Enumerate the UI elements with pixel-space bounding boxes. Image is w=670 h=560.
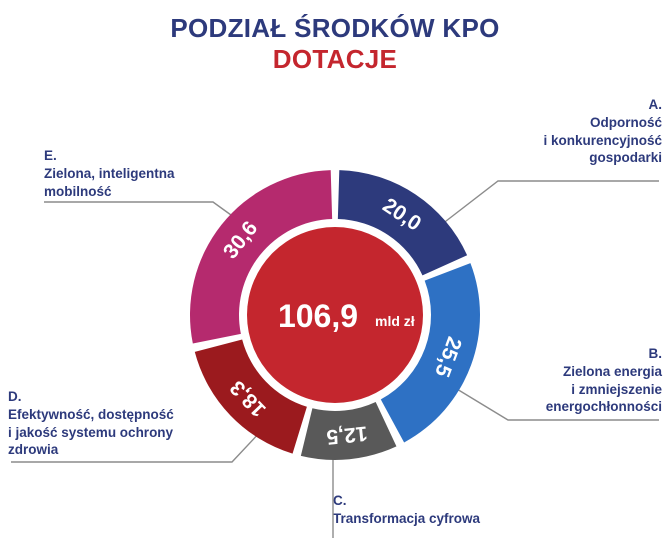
center-total-value: 106,9 xyxy=(278,298,358,334)
slice-value-c: 12,5 xyxy=(325,421,368,448)
center-total-unit: mld zł xyxy=(375,313,415,329)
donut-chart: 106,9 mld zł 20,025,512,518,330,6 xyxy=(0,0,670,560)
infographic-root: PODZIAŁ ŚRODKÓW KPO DOTACJE 106,9 mld zł… xyxy=(0,0,670,560)
